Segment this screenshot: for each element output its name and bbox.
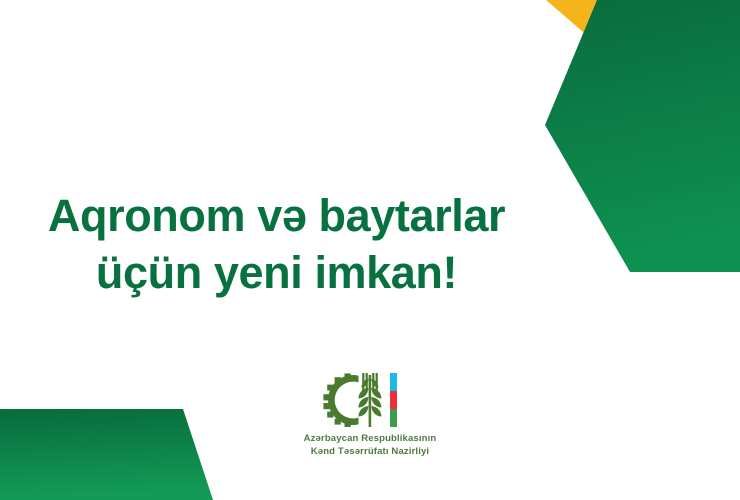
wheat-icon [358, 373, 381, 427]
promotional-banner: Aqronom və baytarlar üçün yeni imkan! [0, 0, 740, 500]
headline-line-2: üçün yeni imkan! [0, 245, 553, 302]
flag-bar [390, 373, 397, 427]
amber-triangle-shape [546, 0, 645, 44]
flag-stripe-green [390, 409, 397, 427]
gear-icon [323, 373, 358, 427]
flag-stripe-blue [390, 373, 397, 391]
ministry-of-agriculture-emblem [322, 373, 418, 427]
page-title: Aqronom və baytarlar üçün yeni imkan! [0, 188, 553, 301]
green-hexagon-shape [545, 0, 740, 272]
ministry-logo: Azərbaycan Respublikasının Kənd Təsərrüf… [0, 373, 740, 459]
logo-caption: Azərbaycan Respublikasının Kənd Təsərrüf… [304, 433, 437, 459]
headline-line-1: Aqronom və baytarlar [0, 188, 553, 245]
logo-caption-line-2: Kənd Təsərrüfatı Nazirliyi [304, 446, 437, 459]
logo-caption-line-1: Azərbaycan Respublikasının [304, 433, 437, 446]
flag-stripe-red [390, 391, 397, 409]
